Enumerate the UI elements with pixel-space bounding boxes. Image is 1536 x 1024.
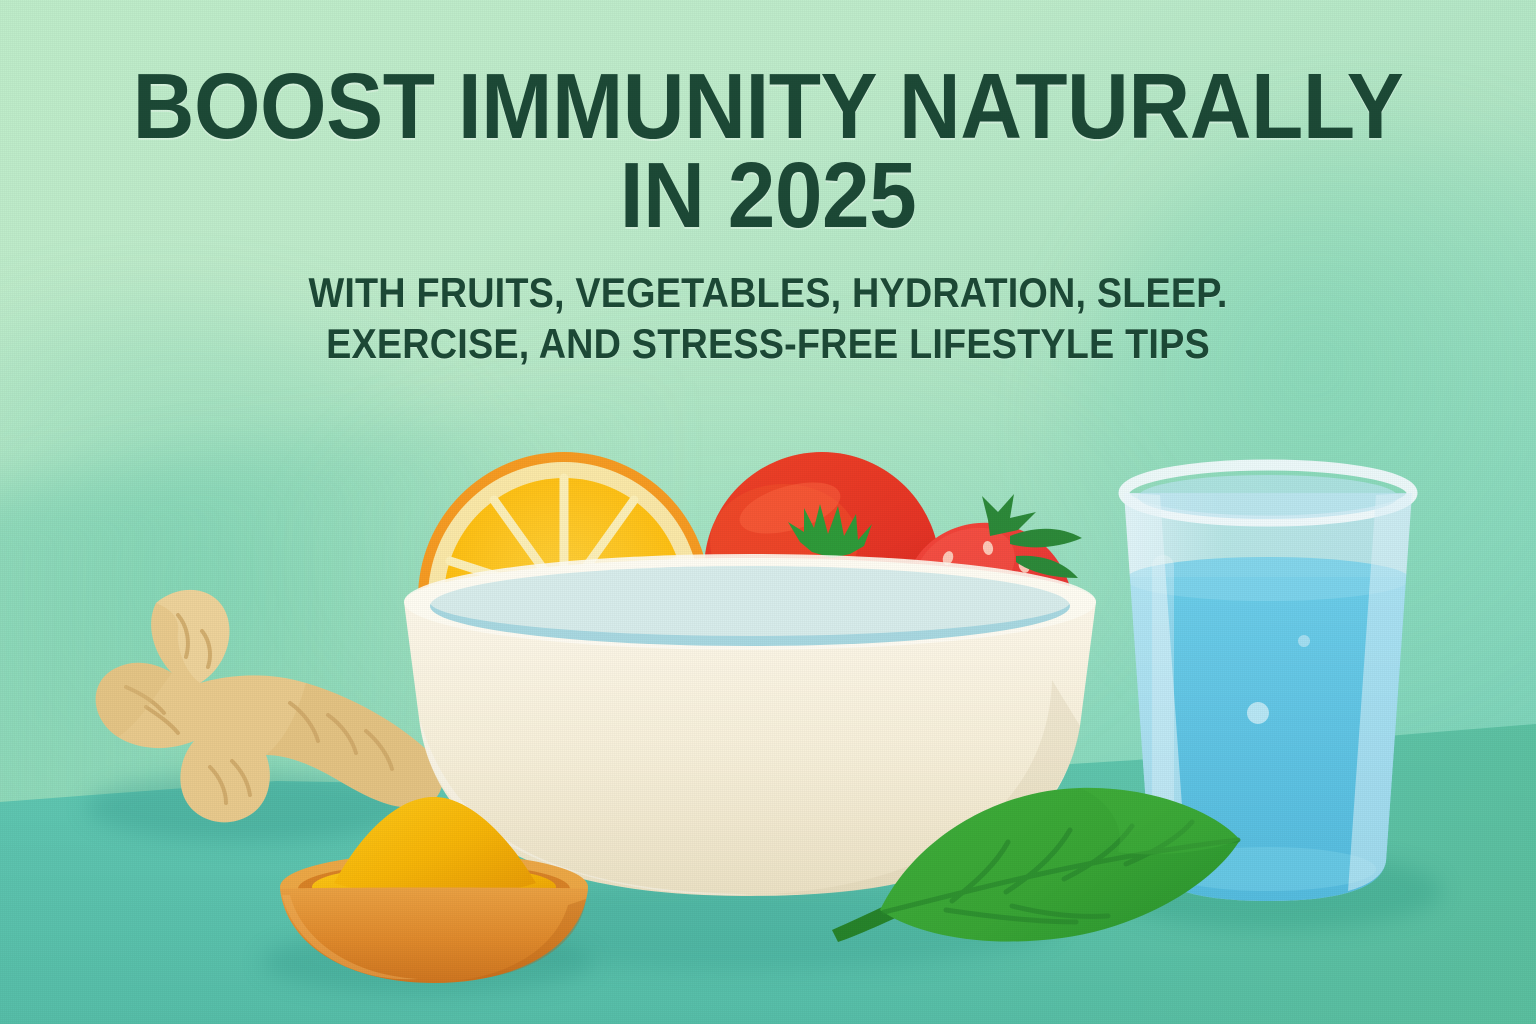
leaf xyxy=(826,782,1246,962)
subtitle-line-2: EXERCISE, AND STRESS-FREE LIFESTYLE TIPS xyxy=(77,318,1459,369)
subtitle-line-1: WITH FRUITS, VEGETABLES, HYDRATION, SLEE… xyxy=(308,269,1227,316)
water-bubble xyxy=(1247,702,1269,724)
glass-rim-inner xyxy=(1138,475,1398,519)
page-title: BOOST IMMUNITY NATURALLY IN 2025 xyxy=(61,62,1474,241)
headline-block: BOOST IMMUNITY NATURALLY IN 2025 WITH FR… xyxy=(0,62,1536,369)
headline-line-2: IN 2025 xyxy=(61,151,1474,240)
ginger-body xyxy=(96,590,443,822)
poster-canvas: BOOST IMMUNITY NATURALLY IN 2025 WITH FR… xyxy=(0,0,1536,1024)
turmeric-bowl-body xyxy=(280,888,588,984)
turmeric-bowl xyxy=(268,795,598,985)
page-subtitle: WITH FRUITS, VEGETABLES, HYDRATION, SLEE… xyxy=(77,267,1459,369)
